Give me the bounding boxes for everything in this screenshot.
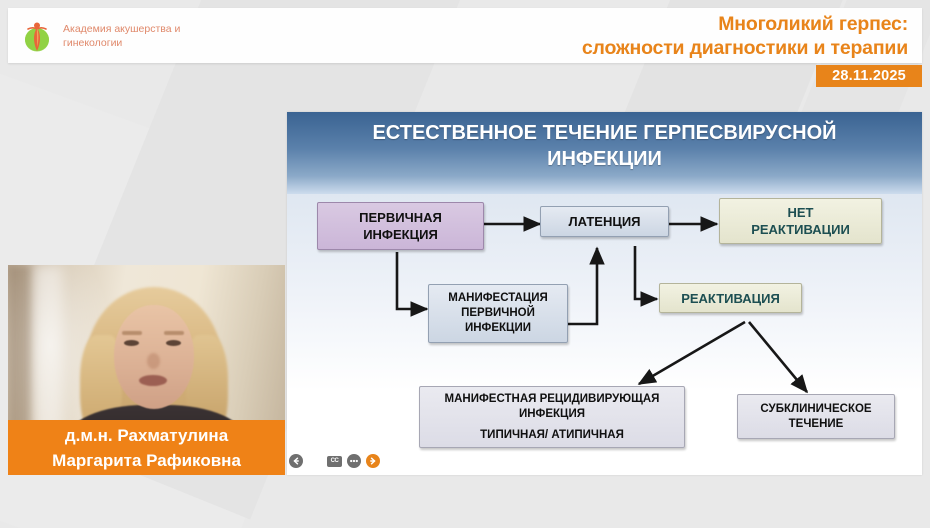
box-label-line3: ТИПИЧНАЯ/ АТИПИЧНАЯ: [480, 428, 624, 443]
page-title: Многоликий герпес: сложности диагностики…: [582, 12, 922, 60]
date-badge: 28.11.2025: [816, 65, 922, 87]
box-label-line1: МАНИФЕСТНАЯ РЕЦИДИВИРУЮЩАЯ: [445, 392, 660, 407]
slide-area[interactable]: ЕСТЕСТВЕННОЕ ТЕЧЕНИЕ ГЕРПЕСВИРУСНОЙ ИНФЕ…: [287, 112, 922, 475]
slide-title-line1: ЕСТЕСТВЕННОЕ ТЕЧЕНИЕ ГЕРПЕСВИРУСНОЙ: [287, 120, 922, 146]
box-label-line2: РЕАКТИВАЦИИ: [751, 221, 850, 238]
box-label-line1: РЕАКТИВАЦИЯ: [681, 290, 780, 307]
forward-icon[interactable]: [366, 454, 380, 468]
diagram-box-reactivation[interactable]: РЕАКТИВАЦИЯ: [659, 283, 802, 313]
box-label-line2: ПЕРВИЧНОЙ: [461, 306, 535, 321]
diagram-box-manifest-recurrent[interactable]: МАНИФЕСТНАЯ РЕЦИДИВИРУЮЩАЯ ИНФЕКЦИЯ ТИПИ…: [419, 386, 685, 448]
box-label-line2: ИНФЕКЦИЯ: [363, 226, 438, 243]
presenter-name-line1: д.м.н. Рахматулина: [65, 423, 228, 448]
page-title-line2: сложности диагностики и терапии: [582, 36, 908, 60]
brand-logo: Академия акушерства и гинекологии: [8, 19, 180, 53]
presentation-stage: Академия акушерства и гинекологии Многол…: [0, 0, 930, 528]
brand-name-line2: гинекологии: [63, 36, 180, 50]
header-bar: Академия акушерства и гинекологии Многол…: [8, 8, 922, 63]
box-label-line1: ЛАТЕНЦИЯ: [568, 213, 640, 230]
slide-diagram: ПЕРВИЧНАЯ ИНФЕКЦИЯ ЛАТЕНЦИЯ НЕТ РЕАКТИВА…: [287, 194, 922, 475]
pen-icon[interactable]: [308, 454, 322, 468]
slide-title-line2: ИНФЕКЦИИ: [287, 146, 922, 172]
page-title-line1: Многоликий герпес:: [582, 12, 908, 36]
presenter-mouth: [139, 375, 167, 386]
diagram-box-no-reactivation[interactable]: НЕТ РЕАКТИВАЦИИ: [719, 198, 882, 244]
box-label-line1: МАНИФЕСТАЦИЯ: [448, 291, 548, 306]
box-label-line1: НЕТ: [788, 204, 814, 221]
more-options-icon[interactable]: [347, 454, 361, 468]
presenter-nose: [147, 353, 160, 369]
box-label-line3: ИНФЕКЦИИ: [465, 321, 531, 336]
box-label-line2: ИНФЕКЦИЯ: [519, 407, 585, 422]
diagram-box-latency[interactable]: ЛАТЕНЦИЯ: [540, 206, 669, 237]
presenter-brow-right: [164, 331, 184, 335]
player-controls[interactable]: CC: [289, 452, 380, 470]
diagram-box-manifestation-primary[interactable]: МАНИФЕСТАЦИЯ ПЕРВИЧНОЙ ИНФЕКЦИИ: [428, 284, 568, 343]
presenter-name-plate: д.м.н. Рахматулина Маргарита Рафиковна: [8, 420, 285, 475]
presenter-eye-right: [166, 340, 181, 346]
diagram-box-subclinical[interactable]: СУБКЛИНИЧЕСКОЕ ТЕЧЕНИЕ: [737, 394, 895, 439]
slide-title: ЕСТЕСТВЕННОЕ ТЕЧЕНИЕ ГЕРПЕСВИРУСНОЙ ИНФЕ…: [287, 112, 922, 194]
female-figure-logo-icon: [22, 19, 56, 53]
presenter-name-line2: Маргарита Рафиковна: [52, 448, 241, 473]
box-label-line2: ТЕЧЕНИЕ: [789, 417, 844, 432]
brand-name-line1: Академия акушерства и: [63, 22, 180, 36]
box-label-line1: ПЕРВИЧНАЯ: [359, 209, 442, 226]
box-label-line1: СУБКЛИНИЧЕСКОЕ: [760, 402, 871, 417]
presenter-eye-left: [124, 340, 139, 346]
presenter-brow-left: [122, 331, 142, 335]
presenter-video[interactable]: д.м.н. Рахматулина Маргарита Рафиковна: [8, 265, 285, 475]
brand-name: Академия акушерства и гинекологии: [63, 22, 180, 50]
diagram-box-primary-infection[interactable]: ПЕРВИЧНАЯ ИНФЕКЦИЯ: [317, 202, 484, 250]
closed-captions-icon[interactable]: CC: [327, 456, 342, 467]
rewind-icon[interactable]: [289, 454, 303, 468]
